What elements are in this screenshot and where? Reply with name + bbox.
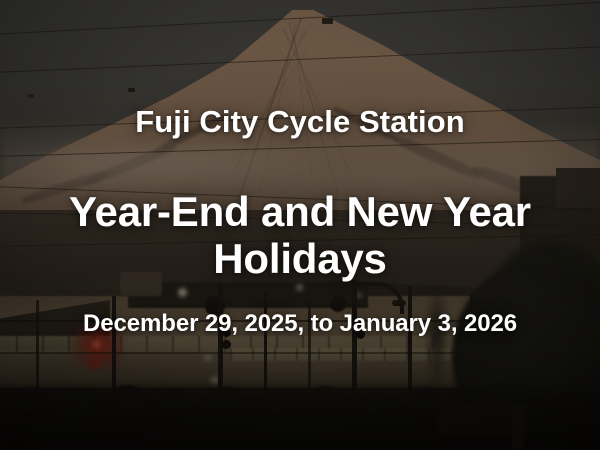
headline: Year-End and New Year Holidays <box>0 188 600 283</box>
headline-line-2: Holidays <box>0 235 600 282</box>
slide-canvas: Fuji City Cycle Station Year-End and New… <box>0 0 600 450</box>
text-overlay: Fuji City Cycle Station Year-End and New… <box>0 0 600 450</box>
organization-name: Fuji City Cycle Station <box>0 104 600 140</box>
headline-line-1: Year-End and New Year <box>0 188 600 235</box>
date-range: December 29, 2025, to January 3, 2026 <box>0 310 600 338</box>
